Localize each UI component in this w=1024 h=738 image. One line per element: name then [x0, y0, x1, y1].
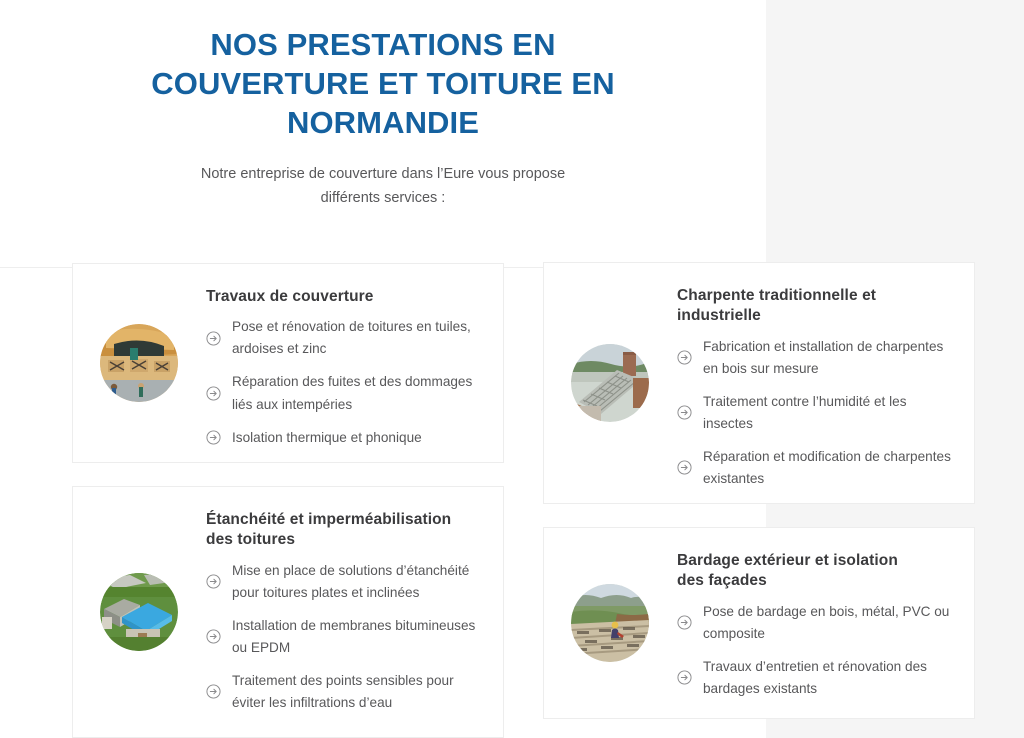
circle-arrow-right-icon	[677, 460, 692, 475]
timber-roof-frame-photo	[571, 344, 649, 422]
card-media	[544, 344, 649, 422]
service-list: Pose de bardage en bois, métal, PVC ou c…	[677, 601, 958, 700]
card-media	[544, 584, 649, 662]
services-page: NOS PRESTATIONS EN COUVERTURE ET TOITURE…	[0, 0, 1024, 738]
service-card-travaux-de-couverture[interactable]: Travaux de couverture Pose et rénovation…	[72, 263, 504, 463]
service-card-etancheite-et-impermeabilisation-des-toitures[interactable]: Étanchéité et imperméabilisation des toi…	[72, 486, 504, 738]
roofer-on-roof-landscape-photo	[571, 584, 649, 662]
list-item: Pose de bardage en bois, métal, PVC ou c…	[677, 601, 958, 645]
card-body: Travaux de couverture Pose et rénovation…	[178, 264, 503, 465]
circle-arrow-right-icon	[206, 629, 221, 644]
service-list: Pose et rénovation de toitures en tuiles…	[206, 316, 487, 448]
list-item-label: Mise en place de solutions d’étanchéité …	[232, 560, 487, 604]
circle-arrow-right-icon	[677, 405, 692, 420]
list-item-label: Pose et rénovation de toitures en tuiles…	[232, 316, 476, 360]
service-card-bardage-exterieur-et-isolation-des-facades[interactable]: Bardage extérieur et isolation des façad…	[543, 527, 975, 719]
list-item-label: Traitement des points sensibles pour évi…	[232, 670, 487, 714]
list-item-label: Réparation et modification de charpentes…	[703, 446, 953, 490]
card-body: Bardage extérieur et isolation des façad…	[649, 528, 974, 716]
list-item: Isolation thermique et phonique	[206, 427, 487, 449]
card-body: Étanchéité et imperméabilisation des toi…	[178, 487, 503, 730]
card-title: Étanchéité et imperméabilisation des toi…	[206, 510, 476, 551]
service-list: Fabrication et installation de charpente…	[677, 336, 958, 490]
card-media	[73, 573, 178, 651]
list-item-label: Réparation des fuites et des dommages li…	[232, 371, 476, 415]
list-item-label: Traitement contre l’humidité et les inse…	[703, 391, 953, 435]
service-card-charpente-traditionnelle-et-industrielle[interactable]: Charpente traditionnelle et industrielle…	[543, 262, 975, 504]
list-item-label: Isolation thermique et phonique	[232, 427, 422, 449]
circle-arrow-right-icon	[206, 574, 221, 589]
list-item-label: Travaux d’entretien et rénovation des ba…	[703, 656, 957, 700]
circle-arrow-right-icon	[206, 386, 221, 401]
list-item-label: Fabrication et installation de charpente…	[703, 336, 953, 380]
list-item: Pose et rénovation de toitures en tuiles…	[206, 316, 487, 360]
circle-arrow-right-icon	[677, 350, 692, 365]
circle-arrow-right-icon	[206, 430, 221, 445]
page-title: NOS PRESTATIONS EN COUVERTURE ET TOITURE…	[148, 26, 618, 142]
list-item: Mise en place de solutions d’étanchéité …	[206, 560, 487, 604]
blue-tarp-roof-photo	[100, 573, 178, 651]
circle-arrow-right-icon	[677, 615, 692, 630]
list-item: Installation de membranes bitumineuses o…	[206, 615, 487, 659]
list-item: Réparation des fuites et des dommages li…	[206, 371, 487, 415]
list-item: Traitement contre l’humidité et les inse…	[677, 391, 958, 435]
list-item: Traitement des points sensibles pour évi…	[206, 670, 487, 714]
circle-arrow-right-icon	[677, 670, 692, 685]
list-item: Travaux d’entretien et rénovation des ba…	[677, 656, 958, 700]
page-subtitle: Notre entreprise de couverture dans l’Eu…	[183, 163, 583, 211]
list-item-label: Installation de membranes bitumineuses o…	[232, 615, 487, 659]
circle-arrow-right-icon	[206, 684, 221, 699]
card-title: Bardage extérieur et isolation des façad…	[677, 551, 922, 592]
card-title: Charpente traditionnelle et industrielle	[677, 286, 922, 327]
list-item: Fabrication et installation de charpente…	[677, 336, 958, 380]
list-item: Réparation et modification de charpentes…	[677, 446, 958, 490]
card-media	[73, 324, 178, 402]
page-header: NOS PRESTATIONS EN COUVERTURE ET TOITURE…	[0, 0, 766, 211]
service-list: Mise en place de solutions d’étanchéité …	[206, 560, 487, 714]
card-body: Charpente traditionnelle et industrielle…	[649, 263, 974, 506]
circle-arrow-right-icon	[206, 331, 221, 346]
list-item-label: Pose de bardage en bois, métal, PVC ou c…	[703, 601, 957, 645]
card-title: Travaux de couverture	[206, 287, 487, 307]
tiled-roof-worksite-photo	[100, 324, 178, 402]
